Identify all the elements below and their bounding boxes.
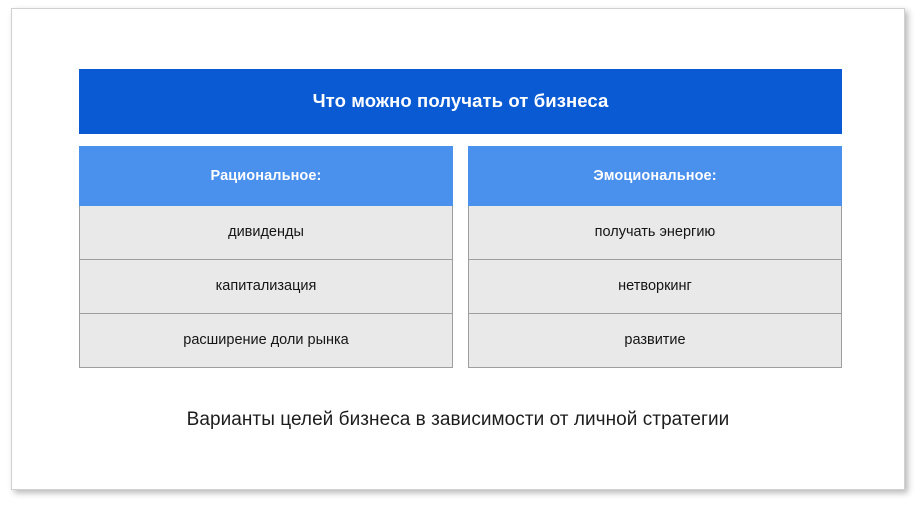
cell-label: дивиденды: [228, 224, 304, 241]
slide-title-banner: Что можно получать от бизнеса: [79, 69, 842, 134]
column-emotional: Эмоциональное: получать энергию нетворки…: [468, 146, 842, 368]
column-rational: Рациональное: дивиденды капитализация ра…: [79, 146, 453, 368]
slide-canvas: Что можно получать от бизнеса Рациональн…: [12, 9, 904, 489]
table-row: расширение доли рынка: [79, 314, 453, 368]
slide-frame: Что можно получать от бизнеса Рациональн…: [11, 8, 905, 490]
column-header-emotional: Эмоциональное:: [468, 146, 842, 206]
column-header-rational: Рациональное:: [79, 146, 453, 206]
slide-caption: Варианты целей бизнеса в зависимости от …: [12, 409, 904, 431]
comparison-columns: Рациональное: дивиденды капитализация ра…: [79, 146, 842, 368]
caption-text: Варианты целей бизнеса в зависимости от …: [187, 409, 730, 430]
table-row: получать энергию: [468, 206, 842, 260]
cell-label: получать энергию: [595, 224, 716, 241]
table-row: нетворкинг: [468, 260, 842, 314]
cell-label: расширение доли рынка: [183, 332, 348, 349]
table-row: дивиденды: [79, 206, 453, 260]
cell-label: нетворкинг: [618, 278, 692, 295]
column-header-label: Рациональное:: [211, 168, 322, 184]
table-row: развитие: [468, 314, 842, 368]
cell-label: капитализация: [216, 278, 317, 295]
page-title: Что можно получать от бизнеса: [313, 90, 609, 112]
cell-label: развитие: [624, 332, 685, 349]
table-row: капитализация: [79, 260, 453, 314]
column-header-label: Эмоциональное:: [593, 168, 716, 184]
